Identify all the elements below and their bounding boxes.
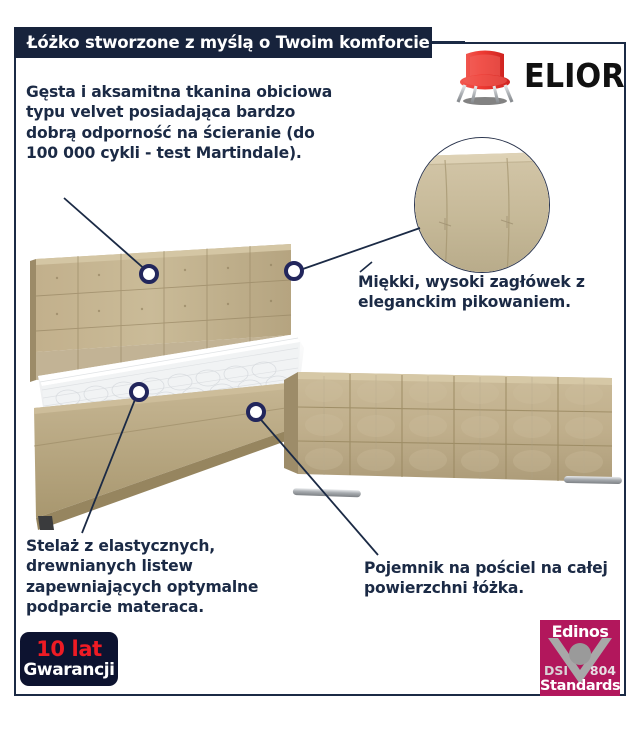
footboard bbox=[284, 372, 612, 482]
red-chair-icon bbox=[452, 45, 518, 105]
marker-headboard[interactable] bbox=[284, 261, 304, 281]
marker-slats[interactable] bbox=[129, 382, 149, 402]
callout-headboard-text: Miękki, wysoki zagłówek z eleganckim pik… bbox=[358, 272, 620, 313]
brand-name: ELIOR bbox=[524, 59, 625, 92]
headboard-zoom-detail bbox=[414, 137, 550, 273]
callout-fabric-text: Gęsta i aksamitna tkanina obiciowa typu … bbox=[26, 82, 348, 163]
edinos-code-right: 804 bbox=[590, 663, 616, 678]
callout-slats-text: Stelaż z elastycznych, drewnianych liste… bbox=[26, 536, 314, 617]
marker-storage[interactable] bbox=[246, 402, 266, 422]
header-title-bar: Łóżko stworzone z myślą o Twoim komforci… bbox=[14, 27, 432, 58]
infographic-canvas: Łóżko stworzone z myślą o Twoim komforci… bbox=[0, 0, 640, 750]
warranty-label: Gwarancji bbox=[23, 662, 114, 679]
warranty-badge: 10 lat Gwarancji bbox=[20, 632, 118, 686]
edinos-certificate-badge: Edinos DSI 804 Standards bbox=[540, 620, 620, 696]
warranty-years: 10 lat bbox=[36, 639, 102, 660]
edinos-standards-label: Standards bbox=[540, 678, 620, 694]
brand-logo: ELIOR bbox=[452, 44, 620, 106]
edinos-code-left: DSI bbox=[544, 663, 568, 678]
callout-storage-text: Pojemnik na pościel na całej powierzchni… bbox=[364, 558, 620, 599]
marker-fabric[interactable] bbox=[139, 264, 159, 284]
page-title: Łóżko stworzone z myślą o Twoim komforci… bbox=[14, 33, 430, 52]
